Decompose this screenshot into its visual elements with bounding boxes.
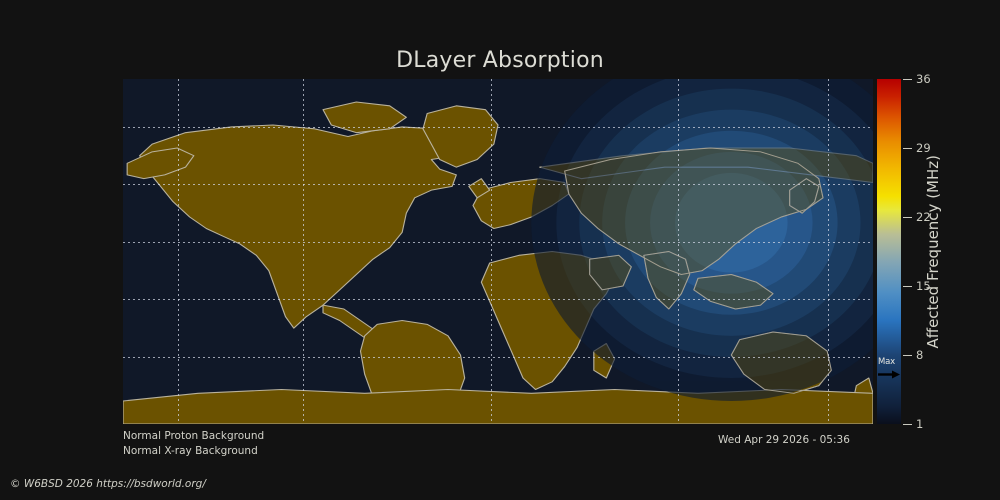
colorbar-tick-15 [903, 286, 912, 287]
gridline-lat-0 [123, 242, 873, 243]
gridline-lat-30s [123, 299, 873, 300]
colorbar-tick-22 [903, 217, 912, 218]
status-notes: Normal Proton Background Normal X-ray Ba… [123, 429, 264, 459]
copyright-label: © W6BSD 2026 https://bsdworld.org/ [10, 478, 206, 490]
gridline-lat-60n [123, 127, 873, 128]
gridline-lon-60w [303, 79, 304, 424]
timestamp-label: Wed Apr 29 2026 - 05:36 [718, 434, 850, 446]
proton-background-note: Normal Proton Background [123, 429, 264, 444]
gridline-lon-120e [828, 79, 829, 424]
colorbar-tick-36 [903, 79, 912, 80]
world-map-svg [123, 79, 873, 424]
gridline-lon-60e [678, 79, 679, 424]
world-map-panel[interactable] [123, 79, 873, 424]
colorbar-tick-8 [903, 355, 912, 356]
colorbar[interactable]: 36 29 22 15 8 1 [877, 79, 901, 424]
colorbar-gradient [877, 79, 901, 424]
colorbar-tick-1 [903, 424, 912, 425]
dlayer-absorption-figure: DLayer Absorption [0, 0, 1000, 500]
page-title: DLayer Absorption [0, 48, 1000, 73]
gridline-lon-0 [491, 79, 492, 424]
gridline-lat-60s [123, 357, 873, 358]
gridline-lat-30n [123, 184, 873, 185]
gridline-lon-120w [178, 79, 179, 424]
colorbar-axis-title: Affected Frequency (MHz) [922, 79, 944, 424]
xray-background-note: Normal X-ray Background [123, 444, 264, 459]
colorbar-tick-29 [903, 148, 912, 149]
colorbar-axis-title-text: Affected Frequency (MHz) [924, 155, 942, 349]
